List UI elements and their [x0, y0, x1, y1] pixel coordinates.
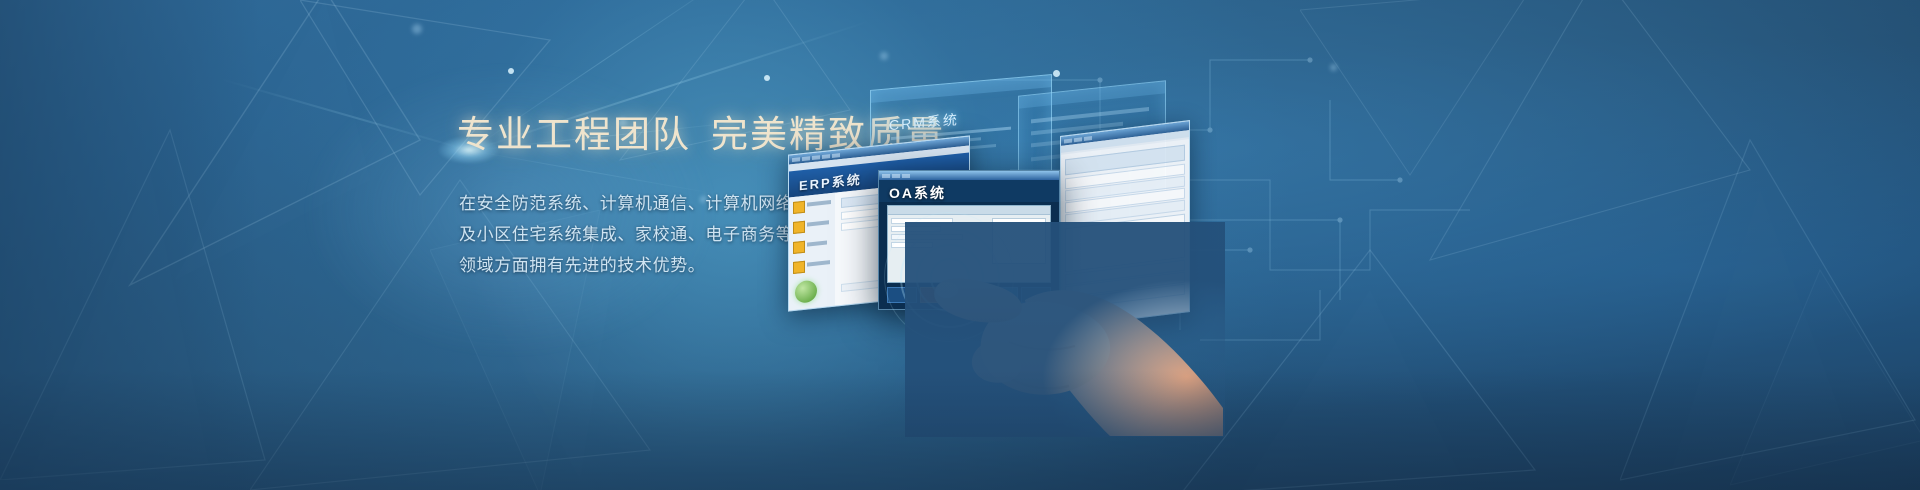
bokeh-dot-icon [412, 24, 422, 34]
folder-icon [793, 241, 805, 254]
headline-primary: 专业工程团队 [457, 115, 691, 156]
bottom-vignette [0, 370, 1920, 490]
screen-title-oa: OA系统 [889, 183, 946, 203]
left-vignette [0, 0, 260, 490]
folder-icon [793, 201, 805, 214]
folder-icon [793, 221, 805, 234]
folder-icon [793, 261, 805, 274]
hero-banner: 专业工程团队完美精致质量 在安全防范系统、计算机通信、计算机网络、智能大厦 及小… [0, 0, 1920, 490]
bokeh-dot-icon [508, 68, 514, 74]
